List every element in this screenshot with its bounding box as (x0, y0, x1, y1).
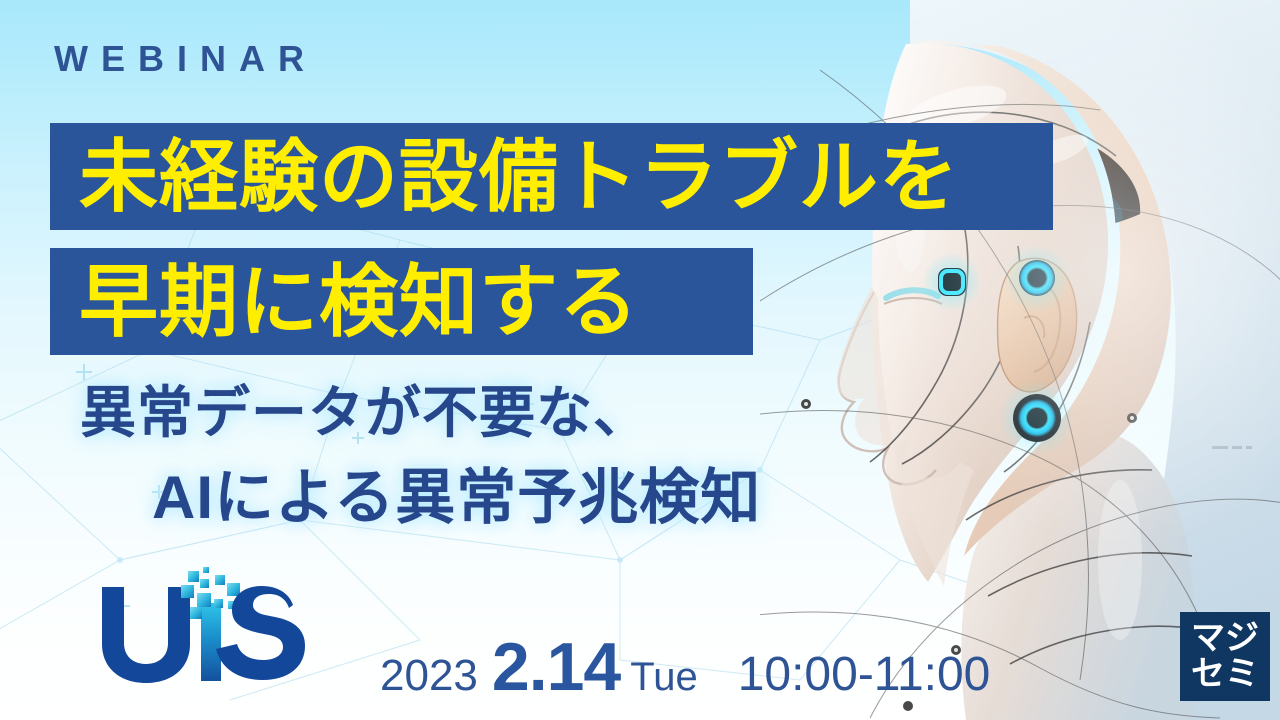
logo-letter-s (216, 586, 305, 680)
title-line-2-text: 早期に検知する (79, 262, 639, 341)
schedule-day-of-week: Tue (630, 655, 697, 700)
eyebrow-label: WEBINAR (54, 41, 317, 77)
title-line-1-text: 未経験の設備トラブルを (79, 137, 959, 216)
webinar-banner: WEBINAR 未経験の設備トラブルを 早期に検知する 異常データが不要な、 A… (0, 0, 1280, 720)
majiseminar-badge[interactable]: マジ セミ (1180, 612, 1270, 701)
schedule-year: 2023 (380, 651, 478, 701)
logo-letter-i (201, 603, 221, 681)
logo-letter-u (102, 587, 190, 683)
subtitle-line-2: AIによる異常予兆検知 (152, 468, 761, 528)
subtitle-line-1: 異常データが不要な、 (80, 385, 650, 441)
badge-line-2: セミ (1191, 657, 1259, 693)
title-band-line-2: 早期に検知する (50, 248, 753, 355)
schedule-line: 2023 2.14 Tue 10:00-11:00 (380, 628, 990, 694)
title-band-line-1: 未経験の設備トラブルを (50, 123, 1053, 230)
uis-logo (96, 565, 306, 685)
schedule-time: 10:00-11:00 (738, 647, 991, 702)
schedule-date: 2.14 (492, 628, 620, 706)
badge-line-1: マジ (1191, 621, 1259, 657)
